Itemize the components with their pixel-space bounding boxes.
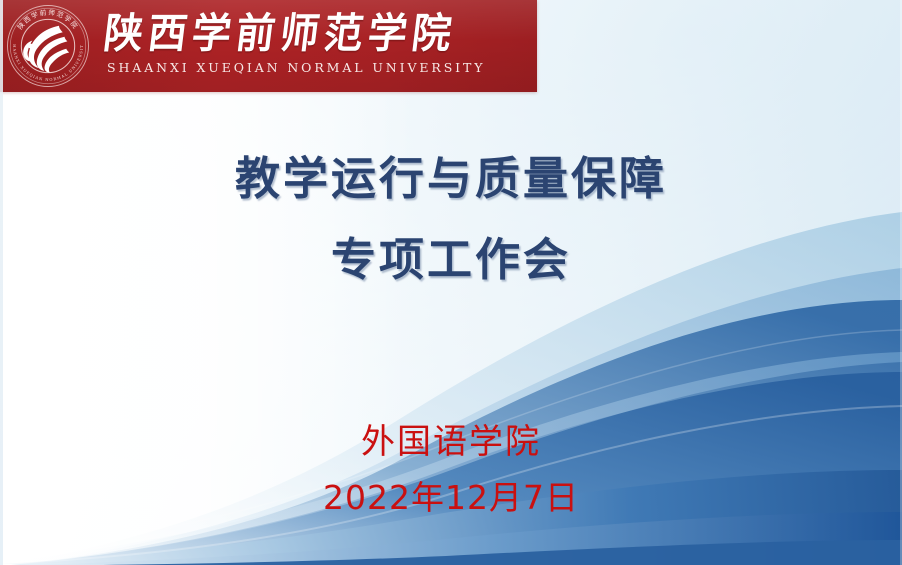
university-header-banner: 陕西学前师范学院 SHAANXI XUEQIAN NORMAL UNIVERSI… <box>0 0 537 92</box>
university-name-group: 陕西学前师范学院 SHAANXI XUEQIAN NORMAL UNIVERSI… <box>104 15 485 77</box>
university-seal-phoenix-icon: 陕西学前师范学院 SHAANXI XUEQIAN NORMAL UNIVERSI… <box>2 0 94 92</box>
slide-left-edge <box>0 0 3 565</box>
title-slide: 陕西学前师范学院 SHAANXI XUEQIAN NORMAL UNIVERSI… <box>0 0 902 565</box>
slide-footer-block: 外国语学院 2022年12月7日 <box>0 425 902 514</box>
university-name-en: SHAANXI XUEQIAN NORMAL UNIVERSITY <box>107 60 485 75</box>
slide-title-block: 教学运行与质量保障 专项工作会 <box>0 156 902 282</box>
department-name: 外国语学院 <box>0 425 902 459</box>
slide-title-line-1: 教学运行与质量保障 <box>0 156 902 201</box>
presentation-date: 2022年12月7日 <box>0 481 902 514</box>
slide-title-line-2: 专项工作会 <box>0 237 902 282</box>
university-name-cn: 陕西学前师范学院 <box>101 14 488 56</box>
